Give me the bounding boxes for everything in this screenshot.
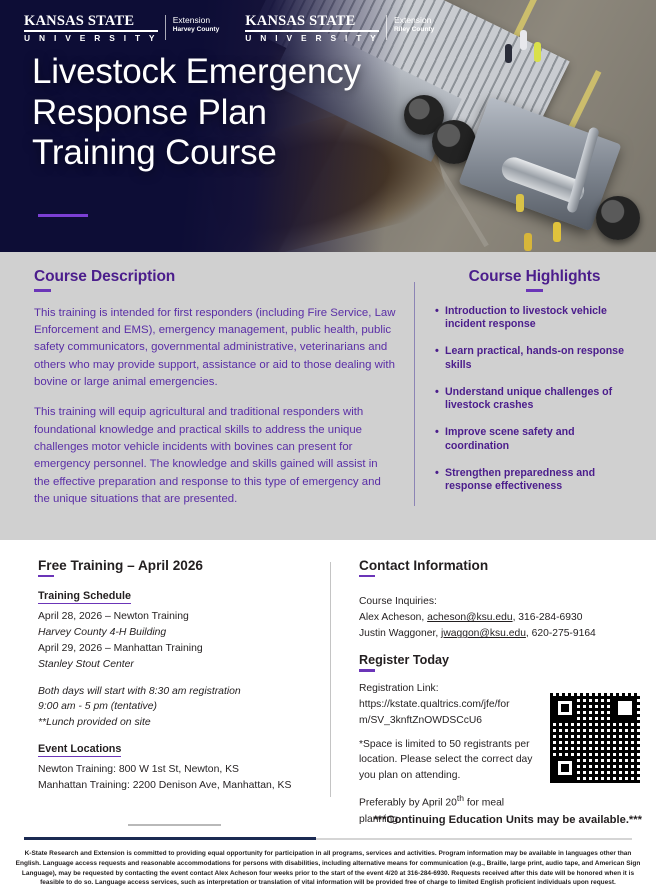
hero-accent-rule xyxy=(38,214,88,217)
event-locations-label-wrap: Event Locations xyxy=(38,739,316,758)
deadline-pre: Preferably by April 20 xyxy=(359,798,457,809)
list-item: Introduction to livestock vehicle incide… xyxy=(435,305,634,333)
ksu-wordmark: KANSAS STATE U N I V E R S I T Y xyxy=(24,14,158,42)
contact-name: Justin Waggoner, xyxy=(359,628,441,639)
page-title: Livestock Emergency Response Plan Traini… xyxy=(32,52,361,174)
ceu-divider-line xyxy=(128,824,221,826)
footer-disclaimer: K-State Research and Extension is commit… xyxy=(0,843,656,894)
registration-link-label: Registration Link: xyxy=(359,681,542,697)
logo-divider xyxy=(165,15,166,40)
spacer xyxy=(38,731,316,739)
contact-email-link[interactable]: jwaggon@ksu.edu xyxy=(441,628,526,639)
location-line: Newton Training: 800 W 1st St, Newton, K… xyxy=(38,762,316,778)
contact-phone: , 316-284-6930 xyxy=(513,612,583,623)
training-schedule-label-wrap: Training Schedule xyxy=(38,586,316,605)
contact-phone: , 620-275-9164 xyxy=(526,628,596,639)
location-line: Manhattan Training: 2200 Denison Ave, Ma… xyxy=(38,778,316,794)
contact-person-row: Alex Acheson, acheson@ksu.edu, 316-284-6… xyxy=(359,610,640,626)
ksu-name: KANSAS STATE xyxy=(245,14,379,32)
logo-group: KANSAS STATE U N I V E R S I T Y Extensi… xyxy=(24,14,434,42)
logo-divider xyxy=(386,15,387,40)
spacer xyxy=(38,673,316,684)
course-highlights-heading: Course Highlights xyxy=(435,268,634,286)
registration-text: Registration Link: https://kstate.qualtr… xyxy=(359,681,542,828)
ksu-extension-logo-riley: KANSAS STATE U N I V E R S I T Y Extensi… xyxy=(245,14,434,42)
schedule-line: April 28, 2026 – Newton Training xyxy=(38,609,316,625)
details-section: Free Training – April 2026 Training Sche… xyxy=(0,540,656,811)
list-item: Learn practical, hands-on response skill… xyxy=(435,345,634,373)
space-limit-note: *Space is limited to 50 registrants per … xyxy=(359,737,542,785)
register-today-heading: Register Today xyxy=(359,653,640,667)
training-note: **Lunch provided on site xyxy=(38,715,316,731)
footer-rule-dark xyxy=(24,837,316,840)
event-locations-label: Event Locations xyxy=(38,743,121,757)
title-line-3: Training Course xyxy=(32,133,361,174)
training-note: 9:00 am - 5 pm (tentative) xyxy=(38,699,316,715)
contact-column: Contact Information Course Inquiries: Al… xyxy=(331,558,640,811)
schedule-line: April 29, 2026 – Manhattan Training xyxy=(38,641,316,657)
spacer xyxy=(359,729,542,737)
extension-label: Extension Riley County xyxy=(394,14,434,42)
footer-rule-light xyxy=(316,838,632,840)
list-item: Strengthen preparedness and response eff… xyxy=(435,467,634,495)
heading-accent-rule xyxy=(359,575,375,577)
training-column: Free Training – April 2026 Training Sche… xyxy=(38,558,330,811)
contact-person-row: Justin Waggoner, jwaggon@ksu.edu, 620-27… xyxy=(359,626,640,642)
ceu-note: ***Continuing Education Units may be ava… xyxy=(373,814,642,826)
spacer xyxy=(359,586,640,594)
registration-block: Registration Link: https://kstate.qualtr… xyxy=(359,681,640,828)
list-item: Improve scene safety and coordination xyxy=(435,426,634,454)
ksu-wordmark: KANSAS STATE U N I V E R S I T Y xyxy=(245,14,379,42)
ceu-row: ***Continuing Education Units may be ava… xyxy=(0,811,656,837)
registration-url-line[interactable]: https://kstate.qualtrics.com/jfe/for xyxy=(359,697,542,713)
extension-county: Harvey County xyxy=(173,26,220,34)
extension-county: Riley County xyxy=(394,26,434,34)
extension-word: Extension xyxy=(173,15,220,26)
title-line-2: Response Plan xyxy=(32,93,361,134)
qr-code[interactable] xyxy=(550,693,640,783)
course-description-heading: Course Description xyxy=(34,268,396,286)
extension-label: Extension Harvey County xyxy=(173,14,220,42)
contact-name: Alex Acheson, xyxy=(359,612,427,623)
list-item: Understand unique challenges of livestoc… xyxy=(435,386,634,414)
course-description-column: Course Description This training is inte… xyxy=(34,268,414,540)
extension-word: Extension xyxy=(394,15,434,26)
course-description-paragraph: This training will equip agricultural an… xyxy=(34,404,396,508)
heading-accent-rule xyxy=(359,669,375,671)
title-line-1: Livestock Emergency xyxy=(32,52,361,93)
footer-rule-row xyxy=(0,837,656,843)
registration-url-line[interactable]: m/SV_3knftZnOWDSCcU6 xyxy=(359,713,542,729)
course-highlights-column: Course Highlights Introduction to livest… xyxy=(415,268,634,540)
ksu-name: KANSAS STATE xyxy=(24,14,158,32)
ksu-extension-logo-harvey: KANSAS STATE U N I V E R S I T Y Extensi… xyxy=(24,14,219,42)
contact-heading: Contact Information xyxy=(359,558,640,573)
deadline-ordinal: th xyxy=(457,793,464,803)
contact-email-link[interactable]: acheson@ksu.edu xyxy=(427,612,512,623)
info-band: Course Description This training is inte… xyxy=(0,252,656,540)
spacer xyxy=(359,642,640,653)
training-schedule-label: Training Schedule xyxy=(38,590,131,604)
schedule-venue: Stanley Stout Center xyxy=(38,657,316,673)
hero-section: KANSAS STATE U N I V E R S I T Y Extensi… xyxy=(0,0,656,252)
course-inquiries-label: Course Inquiries: xyxy=(359,594,640,610)
heading-accent-rule xyxy=(34,289,51,292)
training-heading: Free Training – April 2026 xyxy=(38,558,316,573)
schedule-venue: Harvey County 4-H Building xyxy=(38,625,316,641)
flyer-page: KANSAS STATE U N I V E R S I T Y Extensi… xyxy=(0,0,656,891)
heading-accent-rule xyxy=(38,575,54,577)
heading-accent-rule xyxy=(526,289,543,292)
training-note: Both days will start with 8:30 am regist… xyxy=(38,684,316,700)
course-description-paragraph: This training is intended for first resp… xyxy=(34,305,396,392)
ksu-university: U N I V E R S I T Y xyxy=(245,34,379,42)
spacer xyxy=(359,784,542,792)
ksu-university: U N I V E R S I T Y xyxy=(24,34,158,42)
highlights-list: Introduction to livestock vehicle incide… xyxy=(435,305,634,495)
